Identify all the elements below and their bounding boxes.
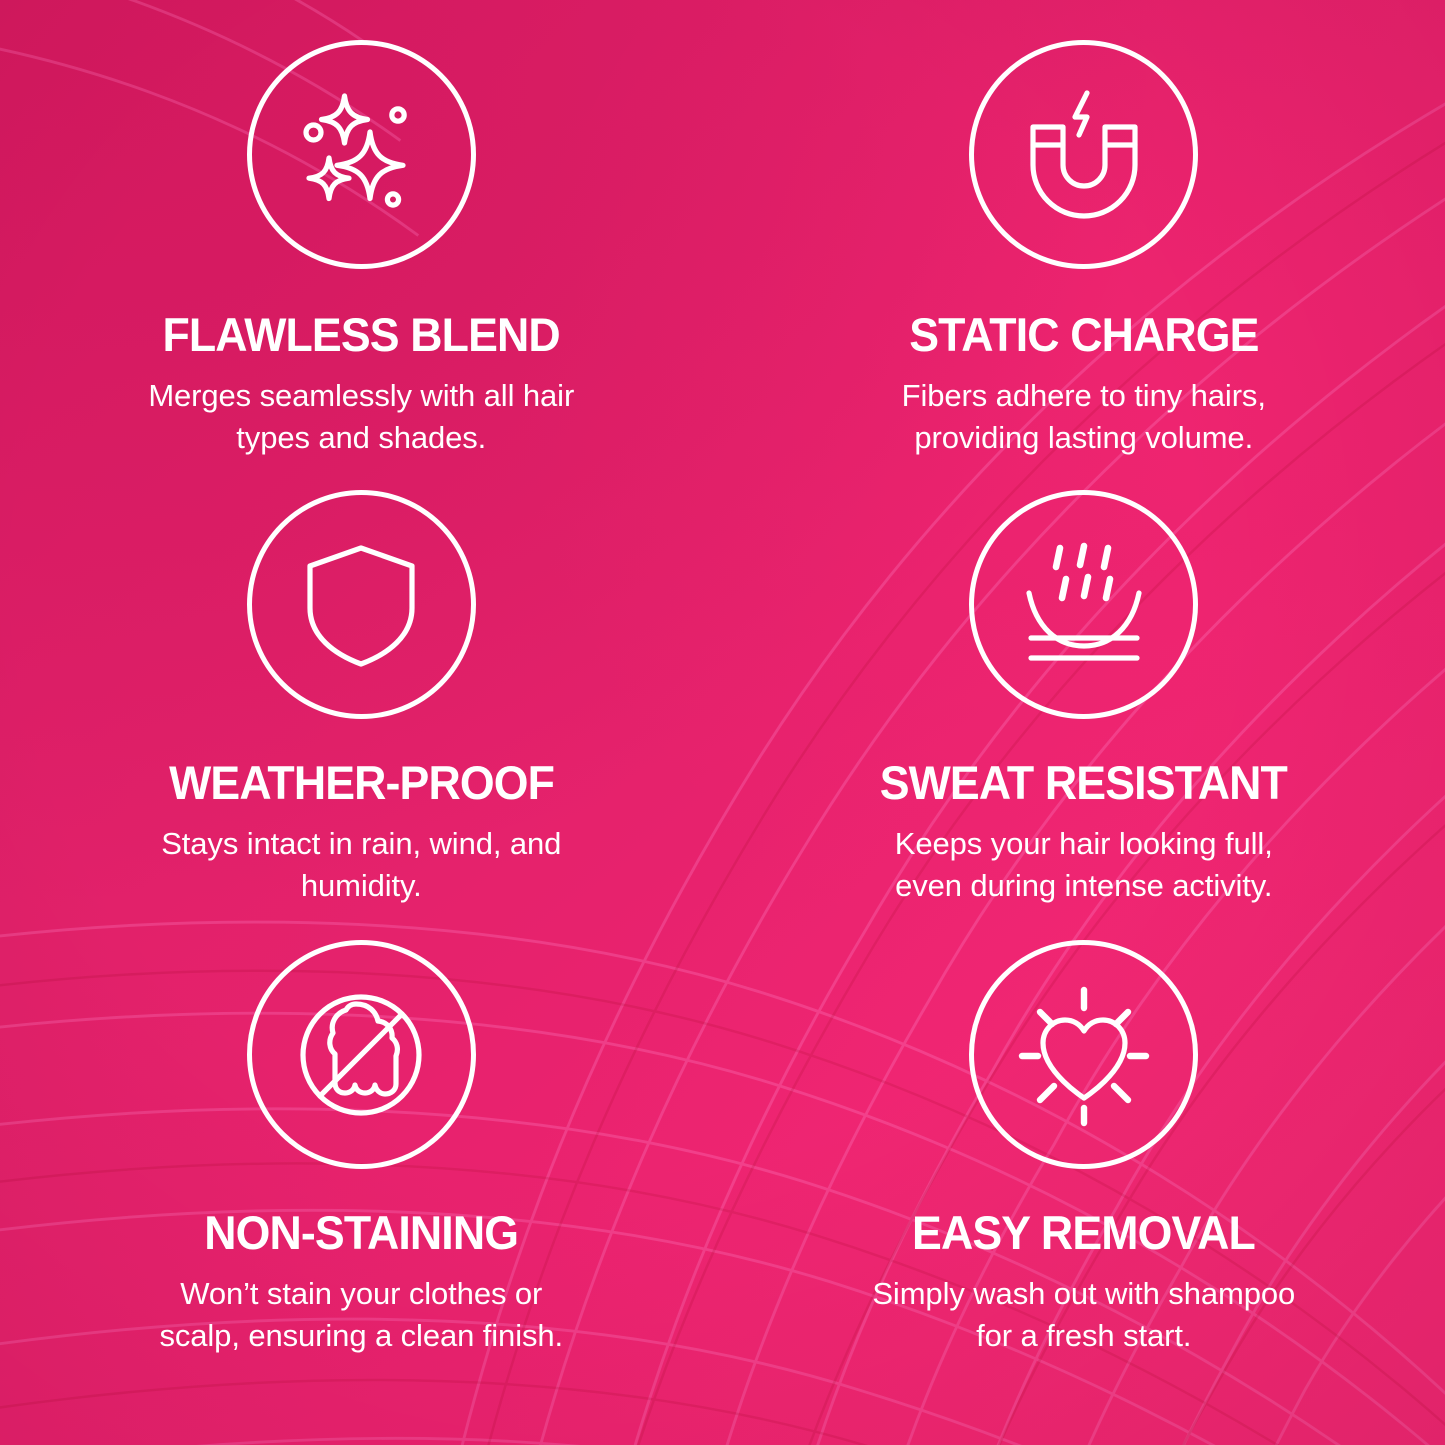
feature-description: Keeps your hair looking full, even durin… [864, 823, 1304, 905]
feature-title: SWEAT RESISTANT [880, 759, 1287, 807]
feature-description: Simply wash out with shampoo for a fresh… [864, 1273, 1304, 1355]
feature-title: WEATHER-PROOF [169, 759, 554, 807]
feature-card-flawless-blend: FLAWLESS BLEND Merges seamlessly with al… [0, 40, 723, 490]
feature-card-easy-removal: EASY REMOVAL Simply wash out with shampo… [723, 940, 1445, 1405]
feature-card-static-charge: STATIC CHARGE Fibers adhere to tiny hair… [723, 40, 1445, 490]
feature-title: NON-STAINING [204, 1209, 518, 1257]
feature-description: Fibers adhere to tiny hairs, providing l… [864, 375, 1304, 457]
feature-card-weather-proof: WEATHER-PROOF Stays intact in rain, wind… [0, 490, 723, 940]
feature-title: EASY REMOVAL [912, 1209, 1255, 1257]
sweat-droplets-icon [969, 490, 1198, 719]
feature-title: FLAWLESS BLEND [163, 311, 560, 359]
magnet-lightning-icon [969, 40, 1198, 269]
shield-icon [247, 490, 476, 719]
feature-grid: FLAWLESS BLEND Merges seamlessly with al… [0, 0, 1445, 1445]
feature-description: Merges seamlessly with all hair types an… [141, 375, 581, 457]
feature-description: Won’t stain your clothes or scalp, ensur… [141, 1273, 581, 1355]
feature-poster: FLAWLESS BLEND Merges seamlessly with al… [0, 0, 1445, 1445]
no-stain-icon [247, 940, 476, 1169]
feature-description: Stays intact in rain, wind, and humidity… [141, 823, 581, 905]
sparkles-icon [247, 40, 476, 269]
feature-card-non-staining: NON-STAINING Won’t stain your clothes or… [0, 940, 723, 1405]
feature-card-sweat-resistant: SWEAT RESISTANT Keeps your hair looking … [723, 490, 1445, 940]
heart-shine-icon [969, 940, 1198, 1169]
feature-title: STATIC CHARGE [909, 311, 1258, 359]
